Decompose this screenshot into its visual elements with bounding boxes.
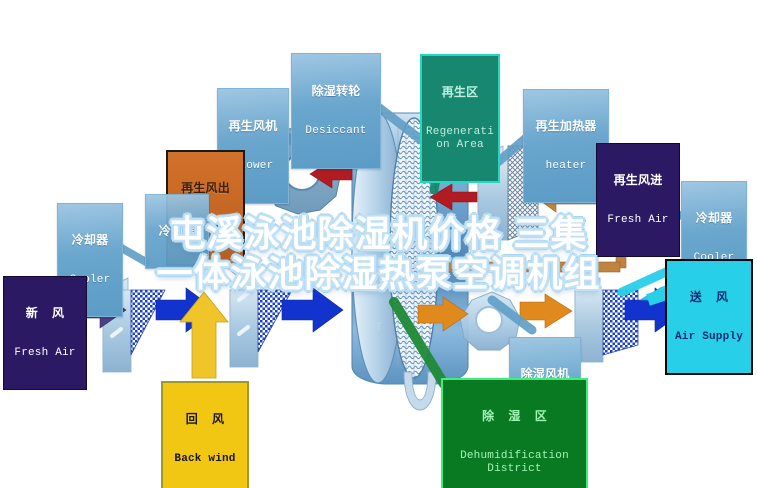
label-dehumid-district[interactable]: 除 湿 区 Dehumidification District [441,378,588,488]
label-regen-fresh-air-cn: 再生风进 [599,174,677,187]
label-dehumid-district-cn: 除 湿 区 [445,410,584,423]
label-desiccant-wheel-en: Desiccant [294,125,378,137]
label-back-wind-cn: 回 风 [165,413,245,426]
label-cooler-right-cn: 冷却器 [684,212,744,225]
label-air-supply-cn: 送 风 [669,291,749,304]
label-fresh-air-en: Fresh Air [6,347,84,359]
label-cooler-mid-cn: 冷却器 [148,225,206,238]
label-regen-heater-en: heater [526,160,606,172]
label-fresh-air[interactable]: 新 风 Fresh Air [3,276,87,390]
label-back-wind-en: Back wind [165,453,245,465]
svg-text:XT: XT [368,321,382,333]
label-desiccant-wheel[interactable]: 除湿转轮 Desiccant [291,53,381,169]
diagram-canvas: XT [0,0,757,488]
label-back-wind[interactable]: 回 风 Back wind [161,381,249,488]
label-cooler-left-cn: 冷却器 [60,234,120,247]
label-air-supply[interactable]: 送 风 Air Supply [665,259,753,375]
label-regen-blower-cn: 再生风机 [220,120,286,133]
cooler-coil-2 [230,278,292,367]
label-regen-fresh-air[interactable]: 再生风进 Fresh Air [596,143,680,257]
label-dehumid-district-en: Dehumidification District [445,450,584,475]
label-regeneration-area-cn: 再生区 [424,86,496,99]
process-arrow-2 [282,288,343,332]
label-regen-fresh-air-en: Fresh Air [599,214,677,226]
label-fresh-air-cn: 新 风 [6,307,84,320]
label-cooler-mid[interactable]: 冷却器 [145,194,209,269]
label-air-supply-en: Air Supply [669,331,749,343]
label-regeneration-area[interactable]: 再生区 Regenerati on Area [420,54,500,183]
label-desiccant-wheel-cn: 除湿转轮 [294,85,378,98]
label-regen-heater-cn: 再生加热器 [526,120,606,133]
label-regeneration-area-en: Regenerati on Area [424,126,496,151]
